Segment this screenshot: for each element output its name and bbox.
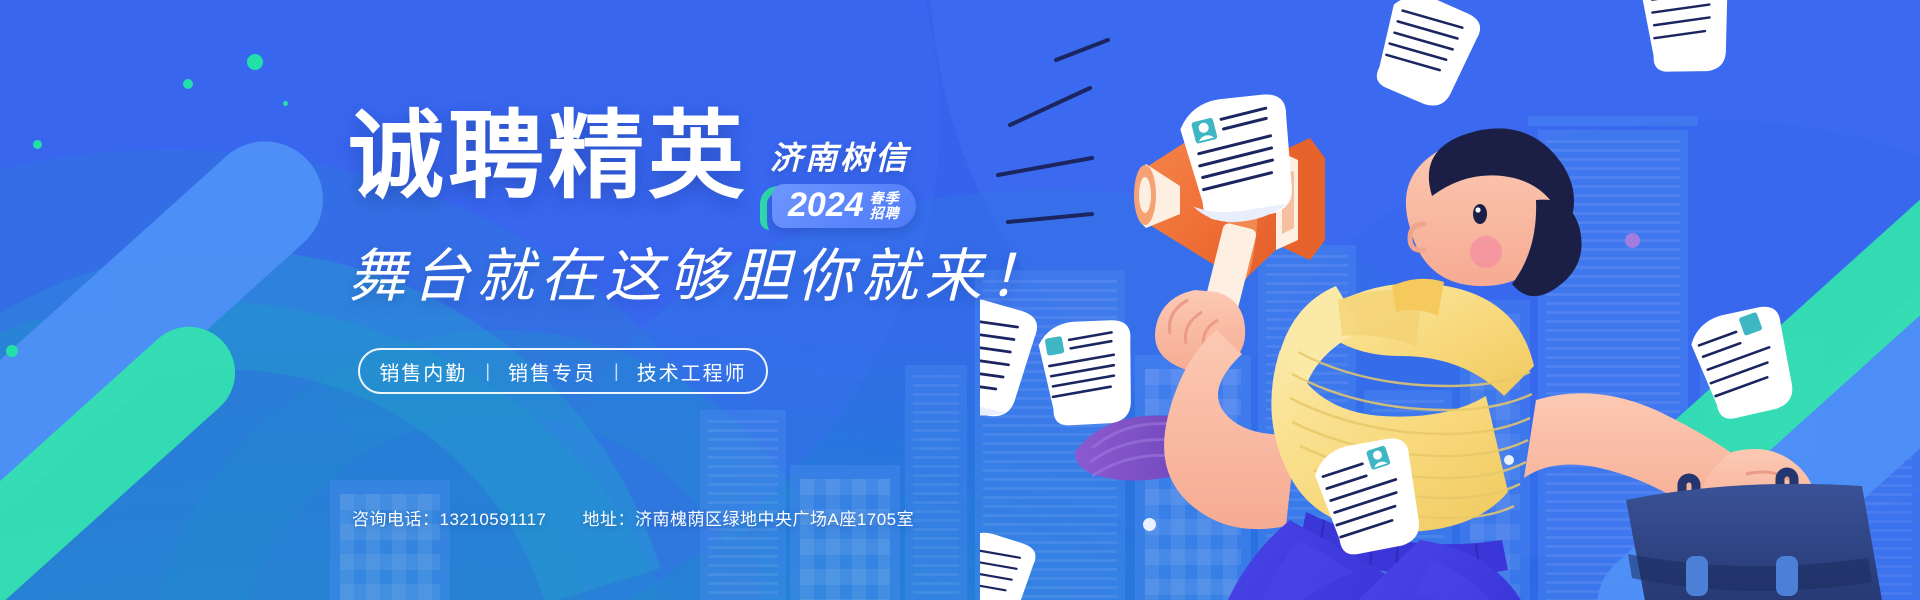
- badge-year: 2024: [788, 188, 864, 222]
- resume-paper-icon: [1036, 312, 1145, 433]
- contact-phone[interactable]: 咨询电话：13210591117: [352, 505, 546, 530]
- job-tags-pill: 销售内勤 | 销售专员 | 技术工程师: [358, 348, 768, 394]
- cheek: [1470, 236, 1502, 268]
- job-tag-sales-support[interactable]: 销售内勤: [361, 357, 485, 386]
- contact-address: 地址：济南槐荫区绿地中央广场A座1705室: [582, 505, 914, 530]
- page-title: 诚聘精英: [348, 108, 748, 204]
- banner-content: 诚聘精英 济南树信 2024 春季 招聘 舞台就在这够胆你就来！ 销售内勤 | …: [0, 0, 1000, 600]
- resume-paper-icon: [1640, 0, 1739, 79]
- eye: [1473, 204, 1487, 224]
- recruitment-badge: 2024 春季 招聘: [760, 184, 916, 228]
- illustration-running-businessman: [980, 0, 1920, 600]
- recruitment-banner: 诚聘精英 济南树信 2024 春季 招聘 舞台就在这够胆你就来！ 销售内勤 | …: [0, 0, 1920, 600]
- resume-paper-icon: [1370, 0, 1485, 113]
- badge-recruit: 招聘: [870, 206, 900, 221]
- resume-paper-icon: [1685, 297, 1808, 429]
- job-tag-technical-engineer[interactable]: 技术工程师: [619, 357, 765, 386]
- clasp: [1776, 556, 1798, 596]
- clasp: [1686, 556, 1708, 596]
- sound-wave-lines: [998, 40, 1108, 222]
- badge-season: 春季: [870, 191, 900, 206]
- job-tag-sales-specialist[interactable]: 销售专员: [490, 357, 614, 386]
- company-name: 济南树信: [770, 133, 910, 179]
- banner-subtitle: 舞台就在这够胆你就来！: [348, 248, 1052, 306]
- head: [1406, 128, 1582, 296]
- contact-info: 咨询电话：13210591117 地址：济南槐荫区绿地中央广场A座1705室: [352, 505, 914, 530]
